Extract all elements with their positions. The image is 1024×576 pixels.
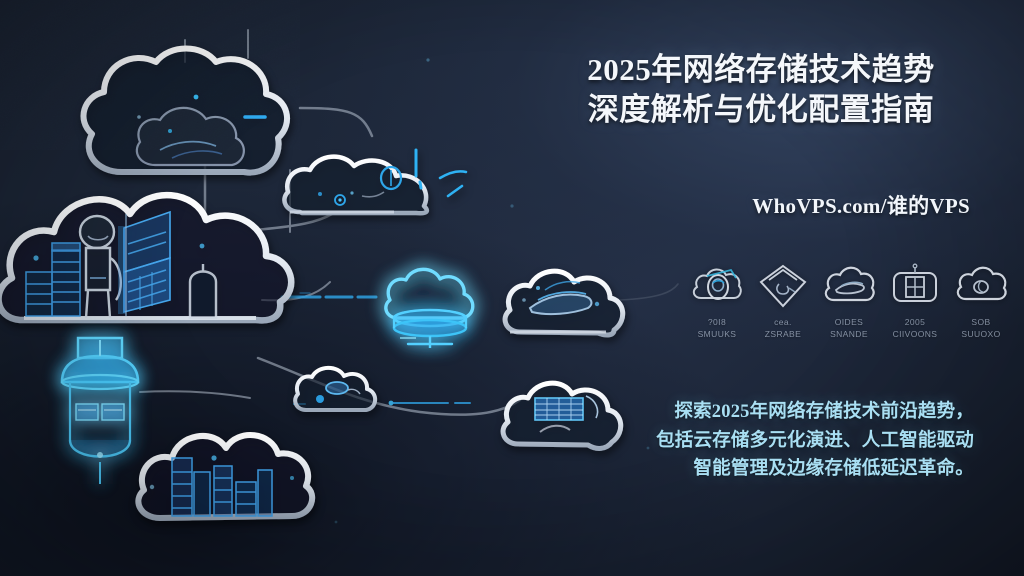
icon-cell-diamond[interactable]: cea. ZSRABE — [752, 262, 814, 341]
icon-cell-server-box[interactable]: 2005 CIIVOONS — [884, 262, 946, 341]
title-line-2: 深度解析与优化配置指南 — [526, 90, 996, 130]
poster-canvas: 2025年网络存储技术趋势 深度解析与优化配置指南 WhoVPS.com/谁的V… — [0, 0, 1024, 576]
feature-icon-strip: ?0I8 SMUUKS cea. ZSRABE OIDES SNANDE — [686, 262, 1012, 341]
cloud-hand-icon — [821, 262, 877, 310]
icon-cell-cloud-hand[interactable]: OIDES SNANDE — [818, 262, 880, 341]
description-text: 探索2025年网络存储技术前沿趋势，包括云存储多元化演进、人工智能驱动智能管理及… — [656, 398, 974, 484]
brand-watermark: WhoVPS.com/谁的VPS — [752, 190, 970, 220]
icon-caption: OIDES SNANDE — [830, 316, 868, 341]
icon-cell-cloud-lock[interactable]: ?0I8 SMUUKS — [686, 262, 748, 341]
text-layer: 2025年网络存储技术趋势 深度解析与优化配置指南 WhoVPS.com/谁的V… — [0, 0, 1024, 576]
title-line-1: 2025年网络存储技术趋势 — [526, 50, 996, 90]
icon-caption: 2005 CIIVOONS — [893, 316, 938, 341]
page-title: 2025年网络存储技术趋势 深度解析与优化配置指南 — [526, 50, 996, 129]
icon-cell-cloud-disc[interactable]: SOB SUUOXO — [950, 262, 1012, 341]
icon-caption: cea. ZSRABE — [765, 316, 801, 341]
server-box-icon — [887, 262, 943, 310]
icon-caption: ?0I8 SMUUKS — [698, 316, 737, 341]
cloud-lock-icon — [689, 262, 745, 310]
diamond-shield-icon — [755, 262, 811, 310]
icon-caption: SOB SUUOXO — [961, 316, 1000, 341]
cloud-disc-icon — [953, 262, 1009, 310]
